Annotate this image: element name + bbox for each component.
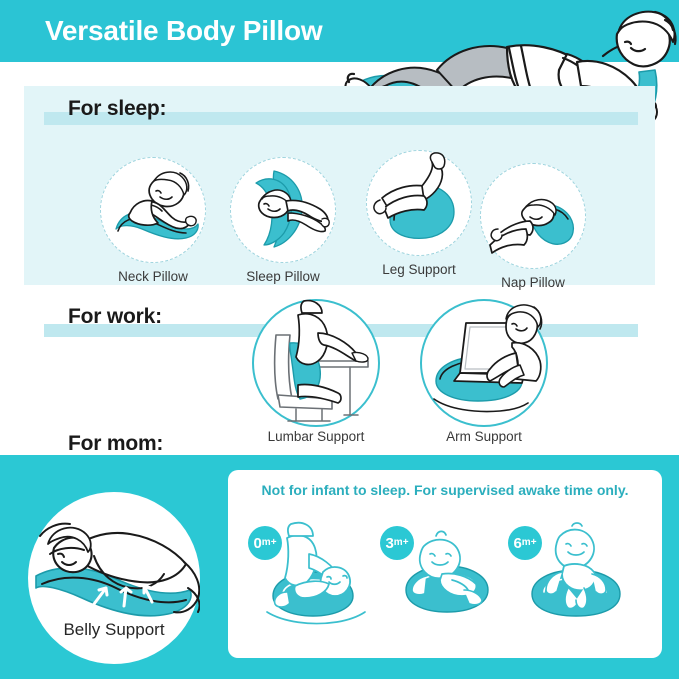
sleep-item-label: Neck Pillow <box>100 269 206 284</box>
age-badge-suffix: m+ <box>262 538 277 548</box>
age-badge-0m: 0 m+ <box>248 526 282 560</box>
neck-pillow-icon <box>100 157 206 263</box>
sleep-item-label: Sleep Pillow <box>230 269 336 284</box>
lumbar-support-icon <box>252 299 380 427</box>
age-badge-suffix: m+ <box>394 538 409 548</box>
mom-section-label: For mom: <box>68 432 163 456</box>
arm-support-icon <box>420 299 548 427</box>
work-item-label: Lumbar Support <box>252 429 380 444</box>
sleep-section-label: For sleep: <box>68 97 166 121</box>
sleep-pillow-icon <box>230 157 336 263</box>
sleep-item-sleep-pillow[interactable]: Sleep Pillow <box>230 157 336 263</box>
nap-pillow-icon <box>480 163 586 269</box>
age-badge-number: 0 <box>253 536 261 551</box>
age-badge-3m: 3 m+ <box>380 526 414 560</box>
work-item-arm-support[interactable]: Arm Support <box>420 299 548 427</box>
infographic-page: Versatile Body Pillow <box>0 0 679 679</box>
sleep-item-leg-support[interactable]: Leg Support <box>366 150 472 256</box>
age-badge-6m: 6 m+ <box>508 526 542 560</box>
sleep-item-nap-pillow[interactable]: Nap Pillow <box>480 163 586 269</box>
page-title: Versatile Body Pillow <box>45 15 322 47</box>
sleep-item-neck-pillow[interactable]: Neck Pillow <box>100 157 206 263</box>
age-badge-number: 6 <box>513 536 521 551</box>
sleep-item-label: Leg Support <box>366 262 472 277</box>
work-item-lumbar-support[interactable]: Lumbar Support <box>252 299 380 427</box>
leg-support-icon <box>366 150 472 256</box>
mom-item-label: Nursing Support <box>249 630 375 646</box>
age-badge-suffix: m+ <box>522 538 537 548</box>
sleep-item-label: Nap Pillow <box>480 275 586 290</box>
mom-item-belly-support-label: Belly Support <box>28 620 200 640</box>
infant-warning-text: Not for infant to sleep. For supervised … <box>228 482 662 498</box>
age-badge-number: 3 <box>385 536 393 551</box>
work-item-label: Arm Support <box>420 429 548 444</box>
mom-item-label: Propping <box>385 630 509 646</box>
work-section-label: For work: <box>68 305 162 329</box>
mom-item-label: Learn to sit <box>512 630 640 646</box>
